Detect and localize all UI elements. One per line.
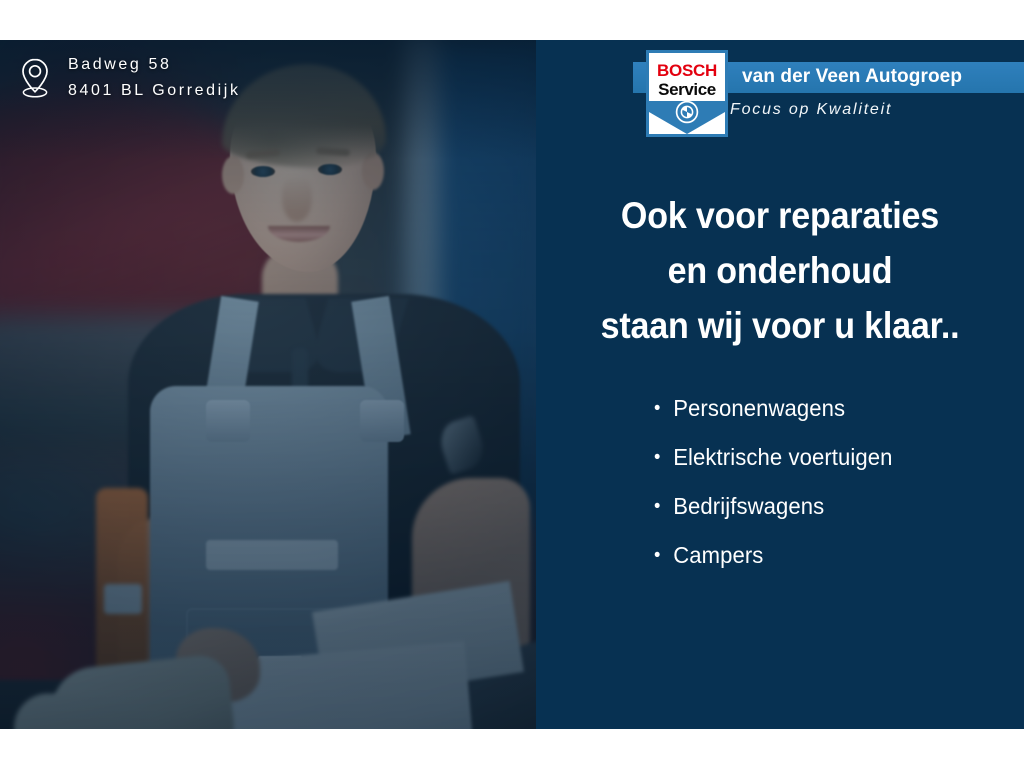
bosch-armature-icon	[675, 100, 699, 124]
bosch-service-logo: BOSCH Service	[646, 50, 728, 137]
location-pin-icon	[16, 56, 54, 100]
bosch-wordmark: BOSCH	[649, 62, 725, 79]
headline-line-1: Ook voor reparaties	[556, 188, 1005, 243]
headline: Ook voor reparaties en onderhoud staan w…	[556, 188, 1005, 353]
list-item: Elektrische voertuigen	[654, 433, 893, 482]
headline-line-3: staan wij voor u klaar..	[556, 298, 1005, 353]
address-line-2: 8401 BL Gorredijk	[68, 78, 241, 104]
info-panel: BOSCH Service van der Veen Autogroep Foc…	[536, 40, 1024, 729]
services-list: Personenwagens Elektrische voertuigen Be…	[654, 384, 902, 580]
list-item: Personenwagens	[654, 384, 893, 433]
company-name: van der Veen Autogroep	[742, 66, 962, 88]
promo-banner: BOSCH Service Badweg 58 8401 BL Gorredij	[0, 40, 1024, 729]
headline-line-2: en onderhoud	[556, 243, 1005, 298]
list-item: Bedrijfswagens	[654, 482, 893, 531]
address-block: Badweg 58 8401 BL Gorredijk	[16, 52, 241, 104]
address-line-1: Badweg 58	[68, 52, 241, 78]
workshop-photo: BOSCH Service	[0, 40, 536, 729]
bosch-logo-inner: BOSCH Service	[649, 53, 725, 134]
bosch-service-text: Service	[649, 81, 725, 98]
list-item: Campers	[654, 531, 893, 580]
address-text: Badweg 58 8401 BL Gorredijk	[68, 52, 241, 104]
brand-tagline: Focus op Kwaliteit	[730, 101, 892, 119]
